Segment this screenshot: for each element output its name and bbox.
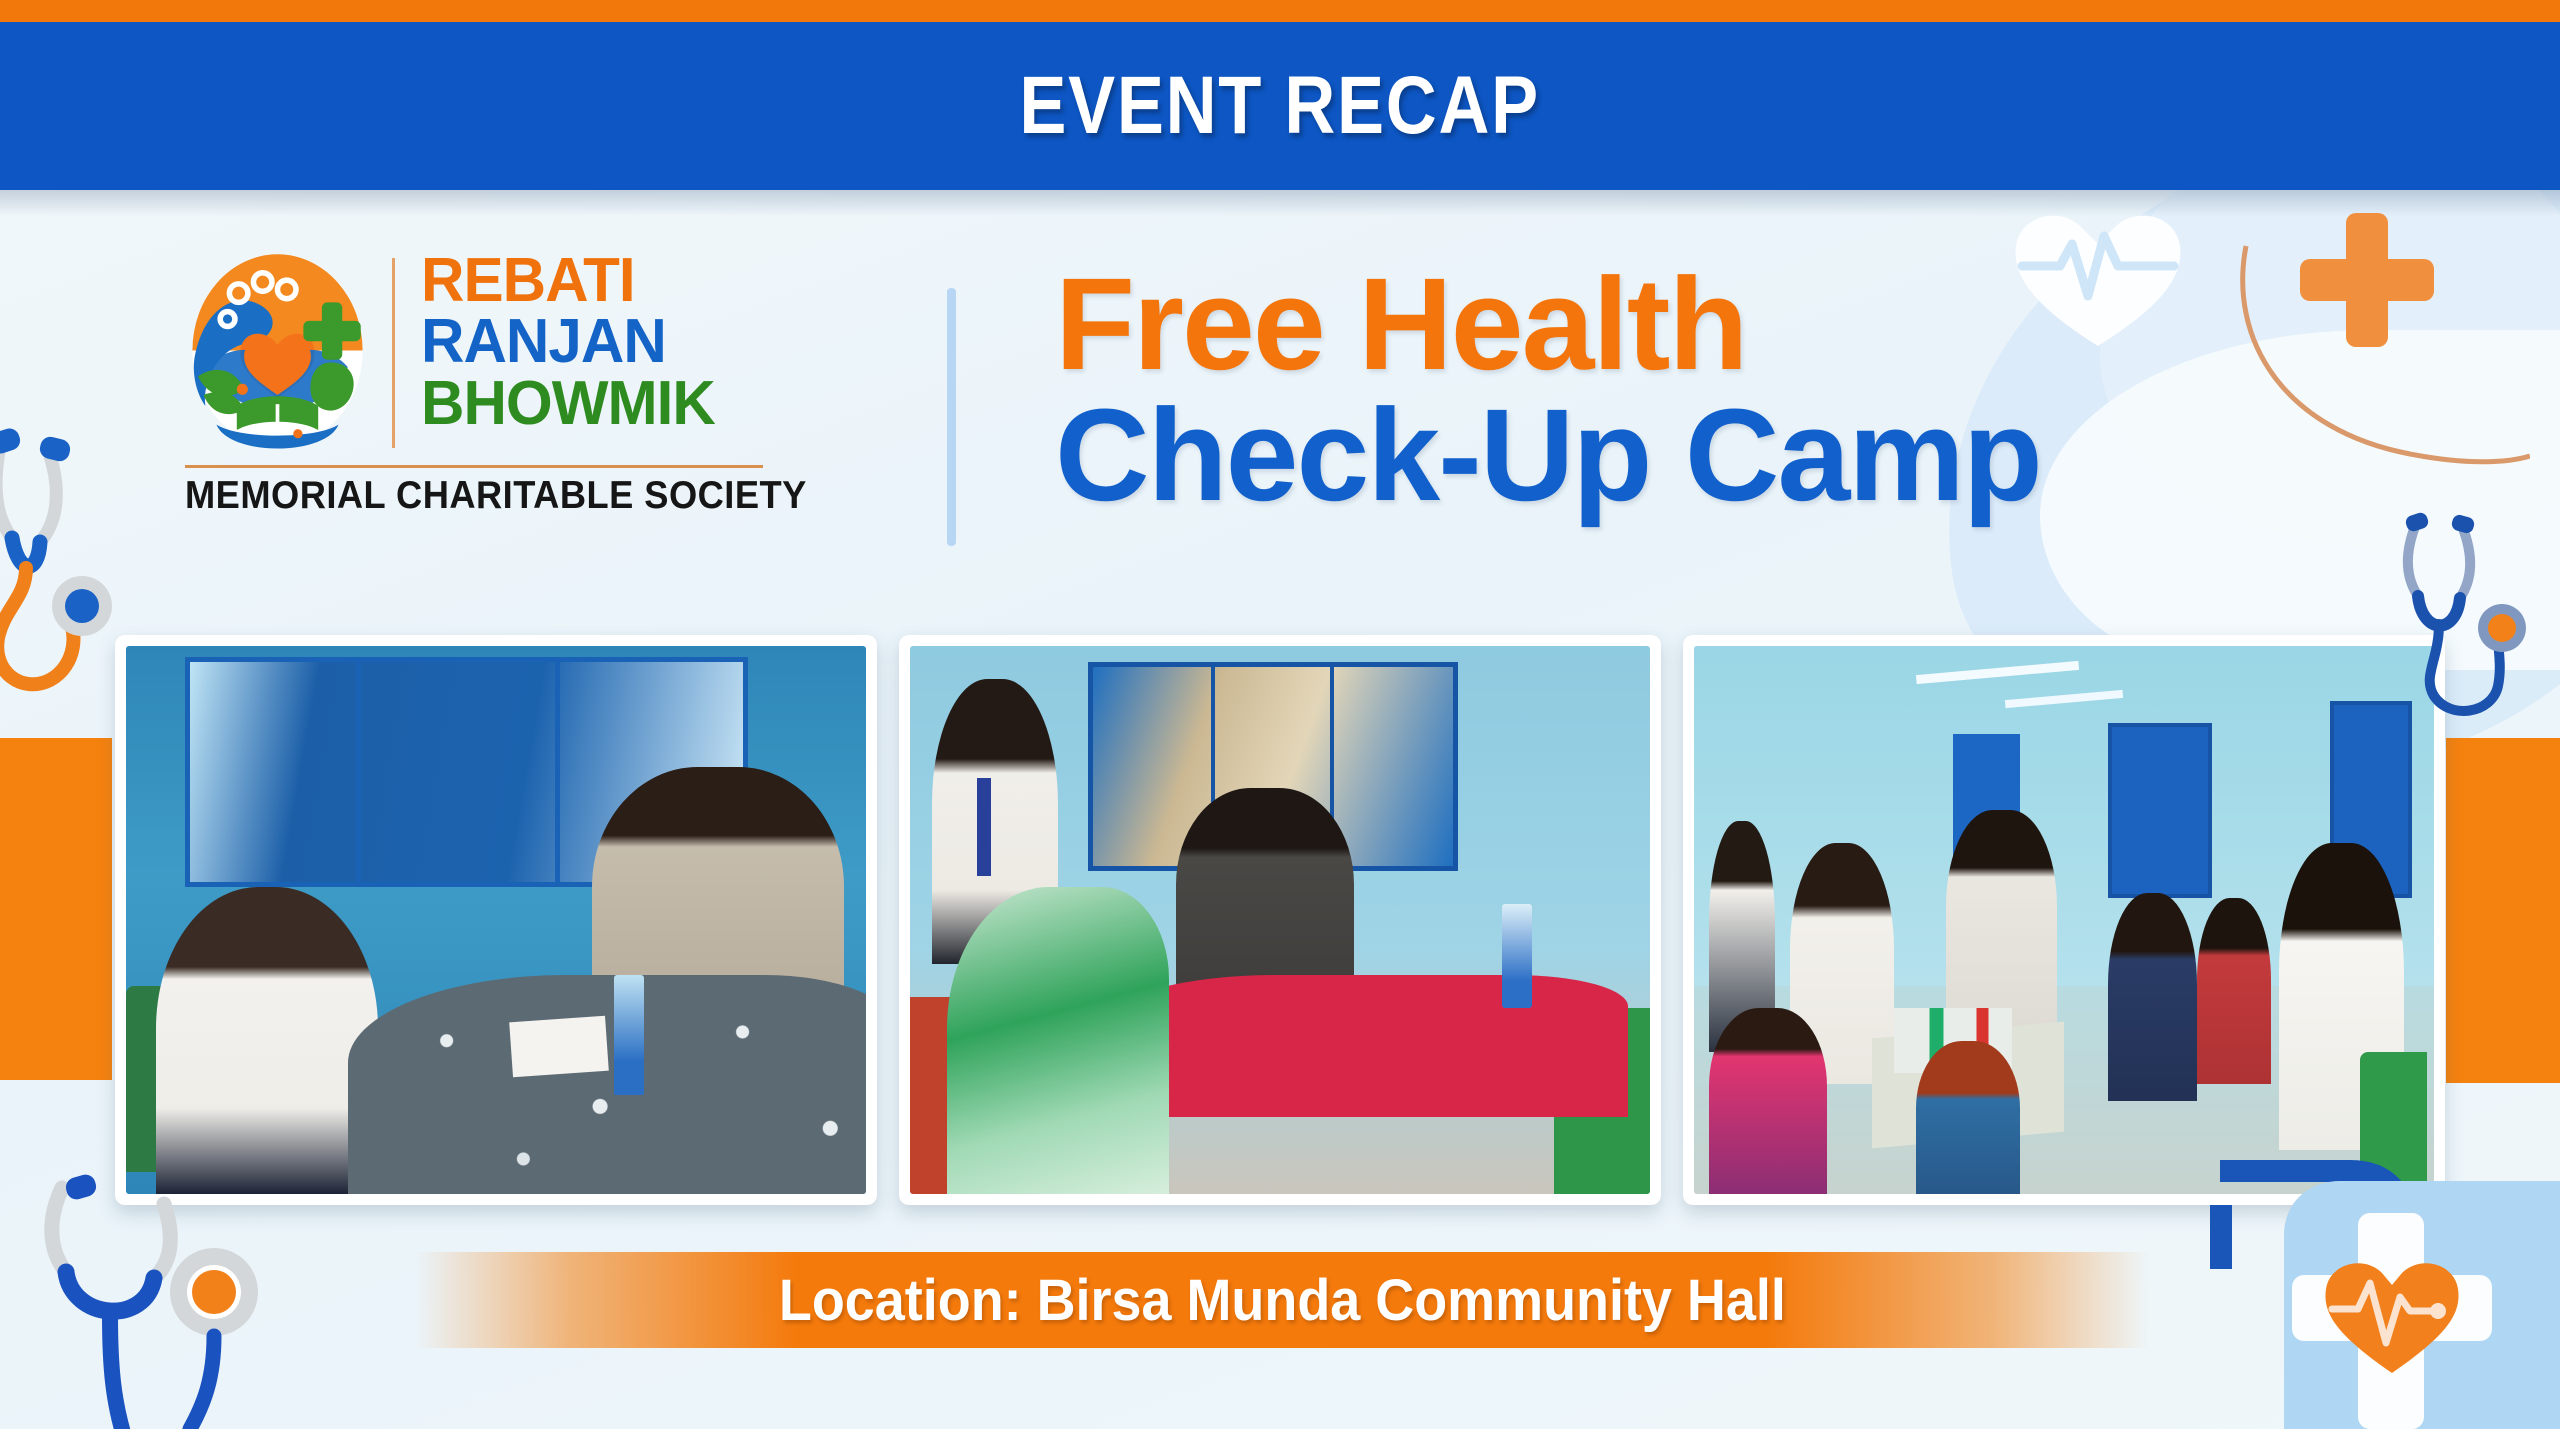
red-cloth-table [1110,975,1628,1117]
photo-card [115,635,877,1205]
photo-card [899,635,1661,1205]
title-line-1: Free Health [1055,258,2041,389]
photo-card [1683,635,2445,1205]
page-title: Free Health Check-Up Camp [1055,258,2041,520]
logo-wordmark: REBATI RANJAN BHOWMIK [421,248,724,434]
photo-gallery [115,635,2445,1205]
lanyard [977,778,992,877]
orange-accent-block-right [2446,738,2560,1083]
person-figure [1709,1008,1827,1194]
water-bottle [1502,904,1532,1008]
logo-emblem-icon [185,248,370,453]
floral-table [348,975,866,1194]
event-recap-poster: EVENT RECAP [0,0,2560,1429]
water-bottle [614,975,644,1096]
top-orange-strip [0,0,2560,22]
organization-logo: REBATI RANJAN BHOWMIK MEMORIAL CHARITABL… [185,248,885,568]
green-chair [2360,1052,2427,1194]
person-figure [2197,898,2271,1084]
logo-name-line-2: RANJAN [421,311,715,372]
logo-underline [185,465,763,468]
title-line-2: Check-Up Camp [1055,389,2041,520]
banner-title: EVENT RECAP [1020,59,1540,153]
logo-subtitle: MEMORIAL CHARITABLE SOCIETY [185,474,836,518]
banner-drop-shadow [0,190,2560,216]
consultation-desk-photo [126,646,866,1194]
camp-hall-overview-photo [1694,646,2434,1194]
person-figure [1916,1041,2020,1194]
patient-figure [156,887,378,1194]
location-bar: Location: Birsa Munda Community Hall [415,1252,2150,1348]
paper-form [509,1015,609,1076]
event-recap-banner: EVENT RECAP [0,22,2560,190]
logo-vertical-divider [392,258,395,448]
elderly-patient-figure [947,887,1169,1194]
logo-name-line-1: REBATI [421,250,715,311]
location-text: Location: Birsa Munda Community Hall [779,1267,1786,1334]
person-figure [2108,893,2197,1101]
logo-name-line-3: BHOWMIK [421,373,715,434]
window-grille [2108,723,2212,898]
orange-accent-block-left [0,738,112,1080]
title-vertical-divider [947,288,956,546]
doctor-examination-photo [910,646,1650,1194]
person-figure [1946,810,2057,1040]
